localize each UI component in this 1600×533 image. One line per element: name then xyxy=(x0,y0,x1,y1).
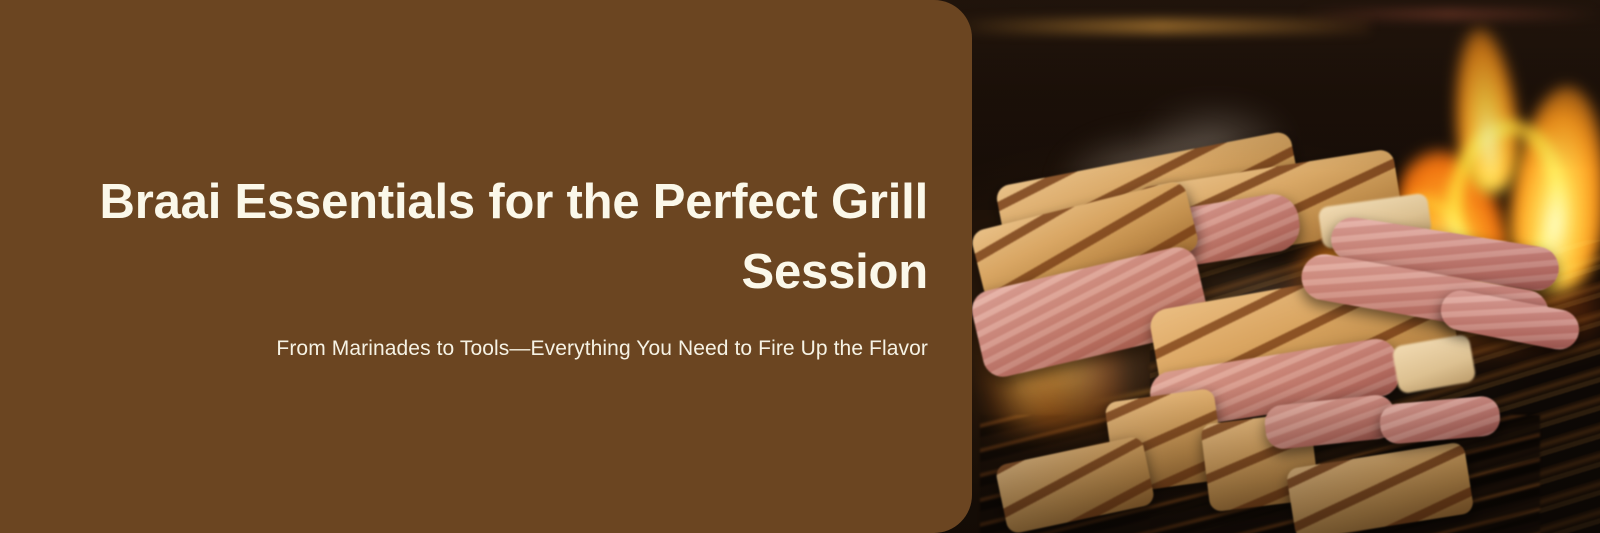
hero-text-panel: Braai Essentials for the Perfect Grill S… xyxy=(0,0,972,533)
hero-headline: Braai Essentials for the Perfect Grill S… xyxy=(53,168,928,307)
photo-top-light-streak xyxy=(950,18,1370,34)
hero-banner: Braai Essentials for the Perfect Grill S… xyxy=(0,0,1600,533)
photo-top-light-streak-2 xyxy=(1300,8,1600,20)
hero-subtitle: From Marinades to Tools—Everything You N… xyxy=(53,333,928,365)
